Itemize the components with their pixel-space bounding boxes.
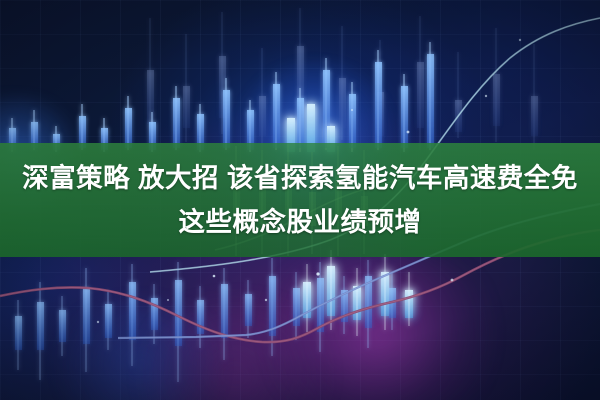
promo-banner-image: 深富策略 放大招 该省探索氢能汽车高速费全免 这些概念股业绩预增: [0, 0, 600, 400]
headline-banner: 深富策略 放大招 该省探索氢能汽车高速费全免 这些概念股业绩预增: [0, 143, 600, 257]
headline-line-1: 深富策略 放大招 该省探索氢能汽车高速费全免: [22, 156, 578, 200]
headline-line-2: 这些概念股业绩预增: [179, 200, 422, 244]
